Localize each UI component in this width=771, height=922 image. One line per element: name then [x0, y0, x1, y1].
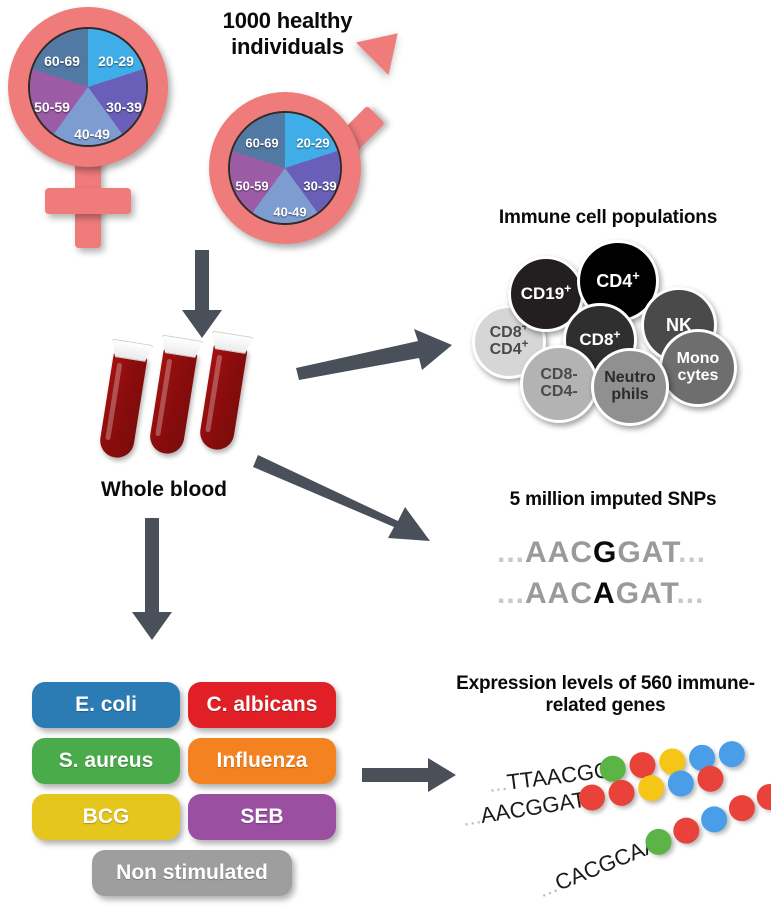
- tube-gloss: [105, 363, 122, 441]
- stimulus-s-aureus[interactable]: S. aureus: [32, 738, 180, 784]
- stimulus-e-coli[interactable]: E. coli: [32, 682, 180, 728]
- cell-label-text: CD4: [596, 271, 632, 291]
- expression-bead: [607, 778, 637, 808]
- cell-label: Neutro phils: [604, 370, 656, 403]
- arrow-blood-to-snps: [258, 455, 438, 547]
- section-title-immune-cells: Immune cell populations: [445, 207, 771, 229]
- cell-label-text: CD19: [521, 284, 564, 303]
- pie-label-50-59: 50-59: [235, 179, 268, 194]
- cell-monocytes: Mono cytes: [659, 329, 737, 407]
- cell-neutrophils: Neutro phils: [591, 348, 669, 426]
- snp-prefix: ...: [497, 536, 525, 569]
- tube-gloss: [155, 359, 172, 437]
- snp-variant-allele: G: [593, 536, 617, 569]
- tube-body: [198, 344, 248, 452]
- cell-label: Mono cytes: [677, 351, 720, 384]
- dna-sequence-text: ...CACGCAA: [534, 831, 662, 903]
- superscript-plus: +: [613, 328, 620, 342]
- cell-cd8n-cd4n: CD8- CD4-: [520, 345, 598, 423]
- expression-bead: [666, 769, 696, 799]
- cell-label-text: CD8: [579, 330, 613, 349]
- cell-label-line2: CD4-: [540, 383, 577, 400]
- pie-label-20-29: 20-29: [98, 53, 134, 69]
- cell-label-line1: Mono: [677, 350, 720, 367]
- pie-label-60-69: 60-69: [44, 53, 80, 69]
- cell-label: CD4+: [596, 272, 640, 291]
- arrow-blood-to-stimuli: [128, 518, 176, 642]
- tube-gloss: [205, 355, 222, 433]
- superscript-plus: +: [632, 268, 640, 283]
- expression-bead: [725, 791, 759, 825]
- snp-right: GAT: [616, 577, 677, 610]
- snp-variant-allele: A: [593, 577, 616, 610]
- expression-bead: [697, 802, 731, 836]
- superscript-plus: +: [564, 282, 571, 296]
- cell-label-line1: CD8-: [540, 366, 577, 383]
- label-whole-blood: Whole blood: [84, 478, 244, 502]
- expression-bead: [696, 764, 726, 794]
- cell-label: CD19+: [521, 285, 572, 303]
- cell-label-line1: CD8: [490, 324, 522, 341]
- snp-sequence-row: ...AACGGAT...: [497, 536, 706, 570]
- section-title-expression: Expression levels of 560 immune-related …: [440, 673, 771, 718]
- snp-suffix: ...: [676, 577, 704, 610]
- stimulus-bcg[interactable]: BCG: [32, 794, 180, 840]
- female-stem-cross: [45, 188, 131, 214]
- stimulus-influenza[interactable]: Influenza: [188, 738, 336, 784]
- pie-label-60-69: 60-69: [245, 136, 278, 151]
- arrow-blood-to-immune: [296, 328, 456, 380]
- snp-sequence-row: ...AACAGAT...: [497, 577, 704, 611]
- arrow-stimuli-to-expression: [362, 758, 458, 792]
- cell-label-line2: CD4: [490, 341, 522, 358]
- snp-suffix: ...: [678, 536, 706, 569]
- pie-label-30-39: 30-39: [303, 179, 336, 194]
- pie-label-30-39: 30-39: [106, 99, 142, 115]
- expression-bead: [636, 773, 666, 803]
- cell-label: CD8- CD4-: [540, 367, 577, 400]
- pie-label-40-49: 40-49: [74, 126, 110, 142]
- snp-left: AAC: [525, 577, 593, 610]
- tube-body: [98, 352, 148, 460]
- snp-prefix: ...: [497, 577, 525, 610]
- cell-label: CD8+ CD4+: [490, 325, 529, 358]
- pie-label-20-29: 20-29: [296, 136, 329, 151]
- pie-label-50-59: 50-59: [34, 99, 70, 115]
- cell-label-line2: cytes: [678, 367, 719, 384]
- superscript-plus: +: [522, 339, 529, 351]
- stimulus-c-albicans[interactable]: C. albicans: [188, 682, 336, 728]
- pie-label-40-49: 40-49: [273, 205, 306, 220]
- stimulus-non-stimulated[interactable]: Non stimulated: [92, 850, 292, 896]
- snp-left: AAC: [525, 536, 593, 569]
- expression-bead: [669, 814, 703, 848]
- arrow-cohort-to-blood: [178, 250, 226, 340]
- snp-right: GAT: [617, 536, 678, 569]
- cell-label: CD8+: [579, 331, 620, 349]
- stimulus-seb[interactable]: SEB: [188, 794, 336, 840]
- section-title-snps: 5 million imputed SNPs: [455, 489, 771, 511]
- cell-label-line2: phils: [611, 386, 648, 403]
- figure-canvas: 1000 healthy individuals Immune cell pop…: [0, 0, 771, 922]
- tube-body: [148, 348, 198, 456]
- cell-label-line1: Neutro: [604, 369, 656, 386]
